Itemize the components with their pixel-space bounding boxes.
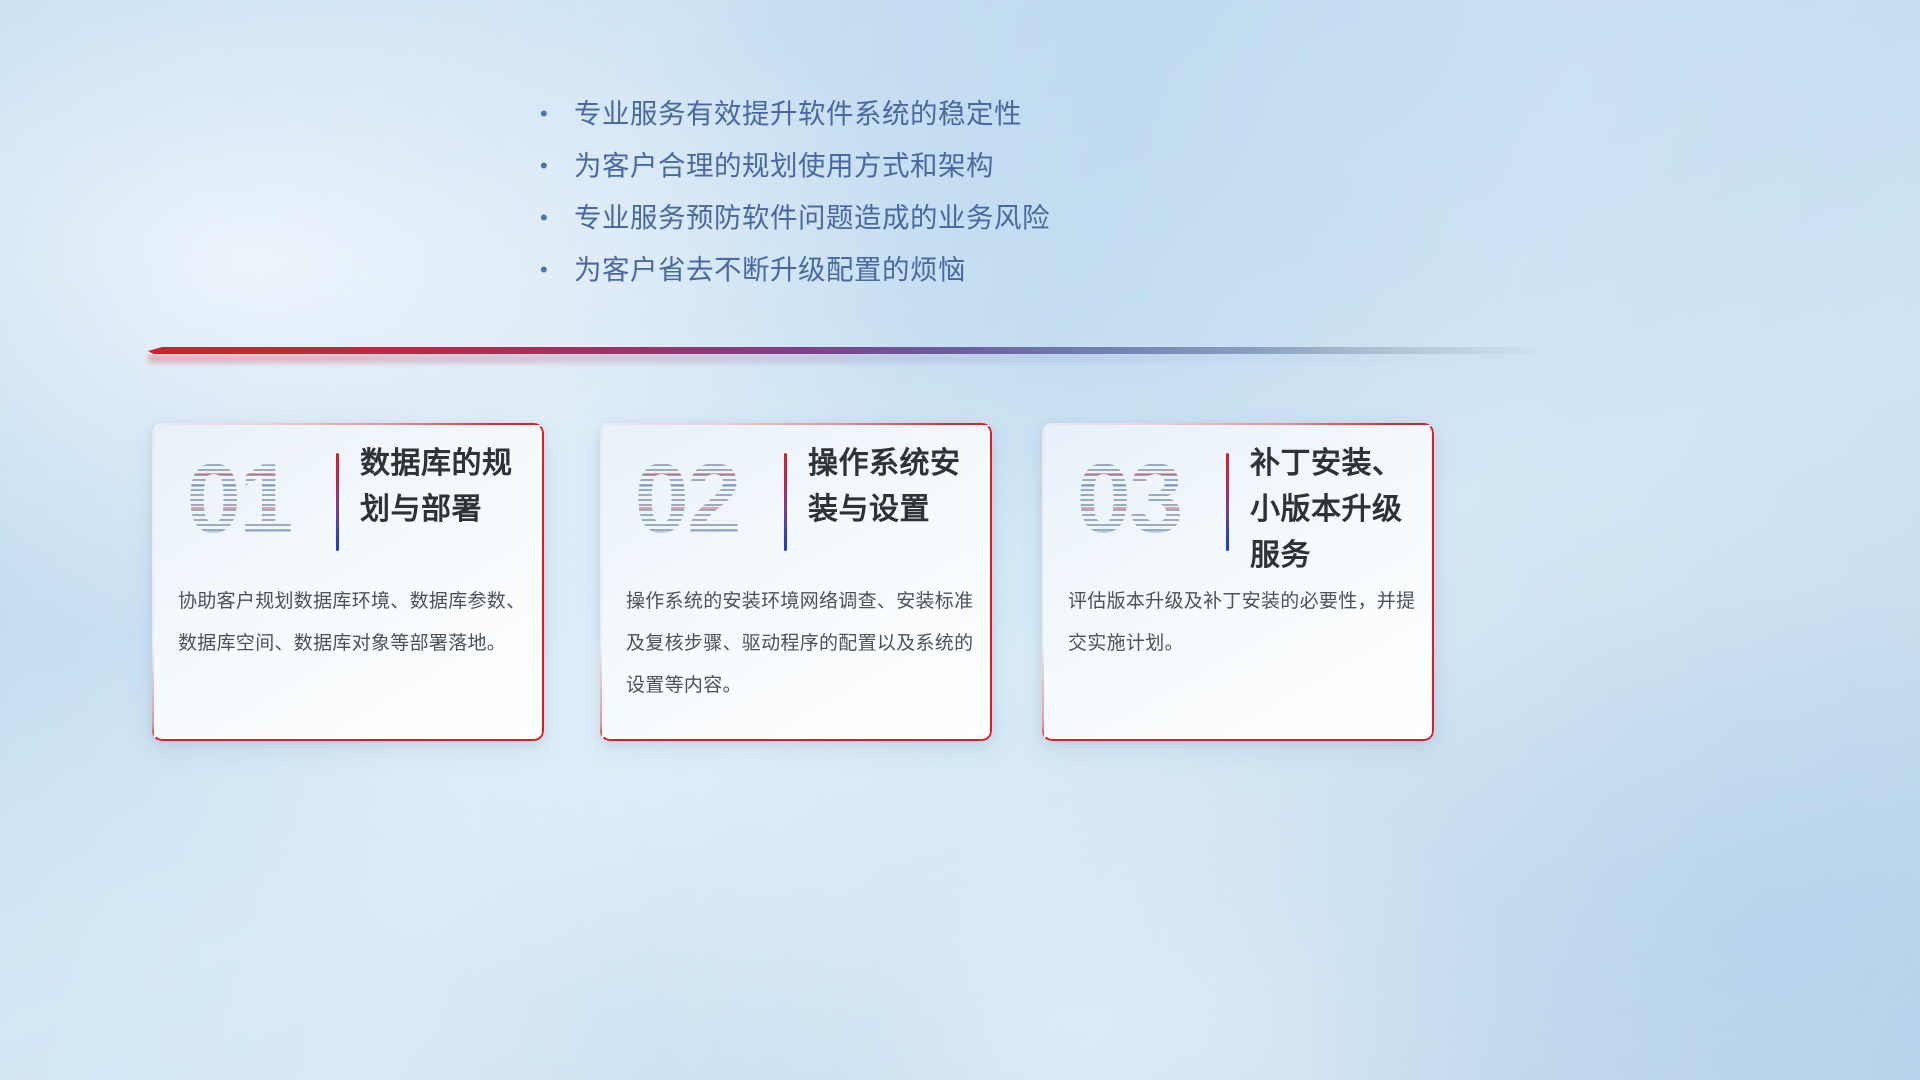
card-top-edge (600, 423, 992, 425)
bullet-text-4: 为客户省去不断升级配置的烦恼 (574, 244, 966, 296)
bullet-dot-icon: • (540, 140, 574, 192)
card-top-edge (1042, 423, 1434, 425)
card-separator-bar (336, 453, 339, 551)
divider-glow (148, 354, 1548, 363)
card-top-edge (152, 423, 544, 425)
card-number-ghost-blue: 02 (620, 439, 754, 559)
service-card-03[interactable]: 03 03 03 补丁安装、小版本升级服务 评估版本升级及补丁安装的必要性，并提… (1042, 423, 1434, 741)
bullet-dot-icon: • (540, 192, 574, 244)
bullet-list: • 专业服务有效提升软件系统的稳定性 • 为客户合理的规划使用方式和架构 • 专… (540, 88, 1300, 296)
card-title: 数据库的规划与部署 (360, 441, 536, 533)
service-card-02[interactable]: 02 02 02 操作系统安装与设置 操作系统的安装环境网络调查、安装标准及复核… (600, 423, 992, 741)
card-number-ghost-blue: 01 (172, 439, 306, 559)
bullet-dot-icon: • (540, 88, 574, 140)
card-header: 03 03 03 补丁安装、小版本升级服务 (1042, 445, 1434, 563)
slide-canvas: • 专业服务有效提升软件系统的稳定性 • 为客户合理的规划使用方式和架构 • 专… (0, 0, 1920, 1080)
service-card-01[interactable]: 01 01 01 数据库的规划与部署 协助客户规划数据库环境、数据库参数、数据库… (152, 423, 544, 741)
bullet-text-2: 为客户合理的规划使用方式和架构 (574, 140, 994, 192)
service-card-group: 01 01 01 数据库的规划与部署 协助客户规划数据库环境、数据库参数、数据库… (152, 423, 1572, 743)
bullet-item-2: • 为客户合理的规划使用方式和架构 (540, 140, 1300, 192)
bullet-item-3: • 专业服务预防软件问题造成的业务风险 (540, 192, 1300, 244)
card-title: 操作系统安装与设置 (808, 441, 984, 533)
bullet-dot-icon: • (540, 244, 574, 296)
bullet-text-1: 专业服务有效提升软件系统的稳定性 (574, 88, 1022, 140)
bullet-text-3: 专业服务预防软件问题造成的业务风险 (574, 192, 1050, 244)
card-number-ghost-blue: 03 (1062, 439, 1196, 559)
card-separator-bar (1226, 453, 1229, 551)
card-separator-bar (784, 453, 787, 551)
card-body-text: 协助客户规划数据库环境、数据库参数、数据库空间、数据库对象等部署落地。 (178, 581, 528, 665)
card-body-text: 操作系统的安装环境网络调查、安装标准及复核步骤、驱动程序的配置以及系统的设置等内… (626, 581, 976, 707)
card-body-text: 评估版本升级及补丁安装的必要性，并提交实施计划。 (1068, 581, 1418, 665)
bullet-item-1: • 专业服务有效提升软件系统的稳定性 (540, 88, 1300, 140)
card-header: 01 01 01 数据库的规划与部署 (152, 445, 544, 563)
section-divider (148, 343, 1548, 365)
bullet-item-4: • 为客户省去不断升级配置的烦恼 (540, 244, 1300, 296)
card-header: 02 02 02 操作系统安装与设置 (600, 445, 992, 563)
card-title: 补丁安装、小版本升级服务 (1250, 441, 1426, 579)
divider-line (148, 347, 1548, 354)
